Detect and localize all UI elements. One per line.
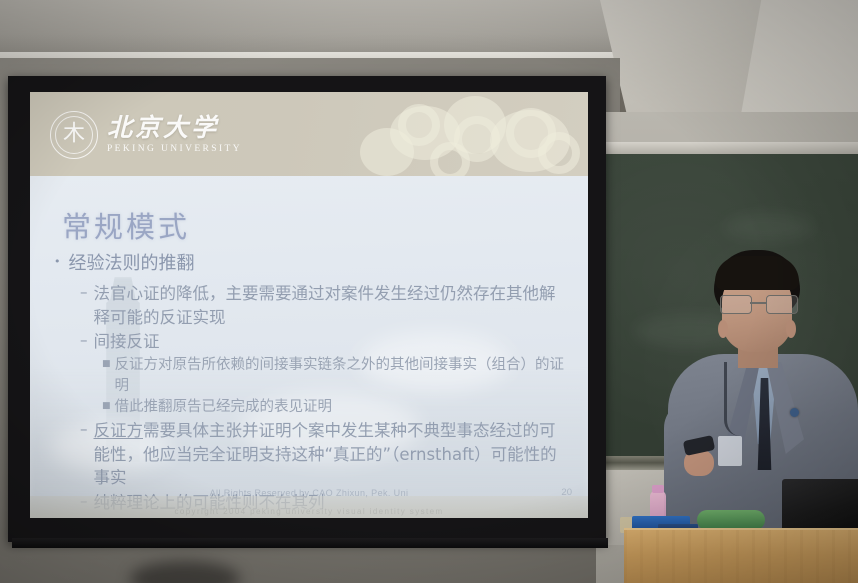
slide-page-number: 20 (561, 487, 572, 498)
bullet-text: 反证方对原告所依赖的间接事实链条之外的其他间接事实（组合）的证明 (115, 355, 570, 396)
bullet-marker-square: ■ (102, 397, 111, 418)
logo-chinese-name: 北京大学 (107, 115, 242, 140)
seal-glyph-icon: 木 (63, 124, 85, 146)
presenter-glasses-icon (720, 295, 796, 313)
bullet-level3: ■ 借此推翻原告已经完成的表见证明 (102, 397, 570, 418)
slide-title: 常规模式 (62, 204, 190, 246)
presentation-slide: 木 北京大学 PEKING UNIVERSITY 常规模式 • 经验法则的推翻 (30, 92, 588, 518)
laptop (782, 479, 858, 534)
slide-footer: All Rights Reserved by CAO Zhixun, Pek. … (30, 488, 588, 498)
bullet-underlined-prefix: 反证方 (94, 421, 144, 440)
lecture-hall-photo: 木 北京大学 PEKING UNIVERSITY 常规模式 • 经验法则的推翻 (0, 0, 858, 583)
slide-copyright-strip: copyright 2004 peking university visual … (30, 507, 588, 516)
pku-logo: 木 北京大学 PEKING UNIVERSITY (50, 111, 242, 159)
slide-footer-text: All Rights Reserved by CAO Zhixun, Pek. … (210, 488, 409, 498)
bullet-level2-underlined: – 反证方需要具体主张并证明个案中发生某种不典型事态经过的可能性，他应当完全证明… (80, 419, 570, 490)
wall-trim (604, 142, 858, 154)
presenter-badge (718, 436, 742, 466)
bullet-marker-dash: – (80, 419, 88, 490)
bullet-text: 经验法则的推翻 (69, 252, 195, 277)
bottle-cap (652, 485, 664, 493)
bullet-text: 借此推翻原告已经完成的表见证明 (115, 397, 333, 418)
bullet-level1: • 经验法则的推翻 (54, 252, 570, 277)
bullet-marker-square: ■ (102, 355, 111, 396)
bullet-level3: ■ 反证方对原告所依赖的间接事实链条之外的其他间接事实（组合）的证明 (102, 355, 570, 396)
bullet-text: 需要具体主张并证明个案中发生某种不典型事态经过的可能性，他应当完全证明支持这种“… (94, 421, 557, 488)
green-roll (697, 510, 765, 530)
bullet-level2: – 间接反证 (80, 330, 570, 354)
logo-english-name: PEKING UNIVERSITY (107, 145, 242, 155)
presenter-fringe (715, 256, 799, 290)
bullet-text: 间接反证 (94, 330, 160, 354)
slide-header-band: 木 北京大学 PEKING UNIVERSITY (30, 92, 588, 176)
bullet-level2: – 法官心证的降低，主要需要通过对案件发生经过仍然存在其他解释可能的反证实现 (80, 282, 570, 330)
pku-seal-icon: 木 (50, 111, 98, 159)
projection-screen-frame: 木 北京大学 PEKING UNIVERSITY 常规模式 • 经验法则的推翻 (8, 76, 606, 542)
bullet-marker-dash: – (80, 330, 88, 354)
slide-body: • 经验法则的推翻 – 法官心证的降低，主要需要通过对案件发生经过仍然存在其他解… (54, 252, 570, 516)
presenter-lapel-pin (790, 408, 799, 417)
podium (624, 528, 858, 583)
bullet-text: 法官心证的降低，主要需要通过对案件发生经过仍然存在其他解释可能的反证实现 (94, 282, 571, 330)
bullet-marker-dot: • (54, 252, 61, 277)
bullet-marker-dash: – (80, 282, 88, 330)
presenter-lanyard (724, 362, 763, 436)
bullet-text-wrap: 反证方需要具体主张并证明个案中发生某种不典型事态经过的可能性，他应当完全证明支持… (94, 419, 571, 490)
